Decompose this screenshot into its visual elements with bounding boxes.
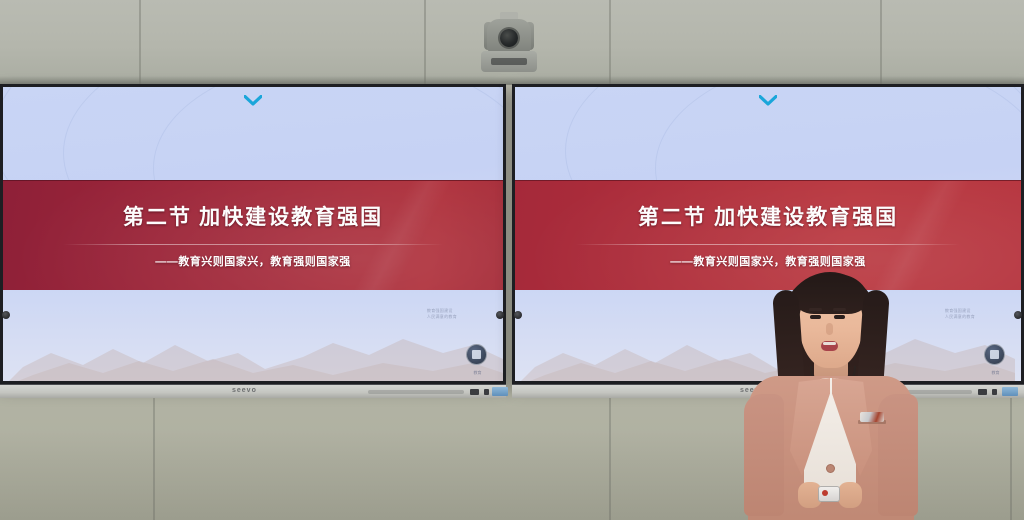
- watermark-line-2: 人民满意的教育: [427, 314, 457, 320]
- slide-watermark-logo-icon: [466, 344, 487, 365]
- presenter: [742, 268, 920, 520]
- wall-panel-seam: [139, 0, 141, 84]
- right-display-side-sensor: [514, 311, 522, 319]
- presenter-teeth: [823, 342, 836, 345]
- ptz-camera: [481, 12, 537, 74]
- watermark-line-2: 人民满意的教育: [945, 314, 975, 320]
- presenter-hand-right: [838, 482, 862, 508]
- right-slide-title: 第二节 加快建设教育强国: [515, 201, 1021, 231]
- camera-label-strip: [491, 58, 527, 65]
- presenter-eye-left: [810, 315, 821, 319]
- left-display-side-sensor: [2, 311, 10, 319]
- title-divider-rule: [576, 244, 961, 245]
- left-slide: 第二节 加快建设教育强国 ——教育兴则国家兴，教育强则国家强 教育强国建设 人民…: [3, 87, 503, 381]
- wall-panel-seam: [609, 0, 611, 84]
- slide-watermark-text: 教育强国建设 人民满意的教育: [427, 308, 457, 320]
- camera-lens-icon: [500, 29, 518, 47]
- right-bezel-badge: [1002, 387, 1018, 396]
- chevron-down-icon[interactable]: [759, 93, 777, 111]
- left-display[interactable]: 第二节 加快建设教育强国 ——教育兴则国家兴，教育强则国家强 教育强国建设 人民…: [0, 84, 506, 384]
- left-bezel-badge: [492, 387, 508, 396]
- slide-watermark-caption: 教育: [468, 370, 487, 376]
- presenter-arm-left: [744, 394, 784, 516]
- presenter-eye-right: [834, 315, 845, 319]
- left-slide-title: 第二节 加快建设教育强国: [3, 201, 503, 231]
- presenter-mouth: [821, 341, 838, 351]
- wall-panel-seam: [880, 0, 882, 84]
- band-diagonal-highlight: [263, 180, 503, 292]
- title-divider-rule: [63, 244, 443, 245]
- presenter-hair-fringe: [794, 274, 868, 314]
- right-display-side-sensor-right: [1014, 311, 1022, 319]
- slide-watermark-logo-icon: [984, 344, 1005, 365]
- logo-glyph: [472, 350, 481, 359]
- slide-watermark-caption: 教育: [986, 370, 1005, 376]
- presenter-remote-control[interactable]: [818, 486, 840, 502]
- left-display-side-sensor-right: [496, 311, 504, 319]
- right-bezel-indicator: [992, 389, 997, 395]
- slide-watermark-text: 教育强国建设 人民满意的教育: [945, 308, 975, 320]
- presenter-nose: [826, 323, 833, 335]
- left-bezel-vent: [368, 390, 464, 394]
- presenter-pocket-square: [860, 412, 884, 422]
- left-display-brand: seevo: [232, 387, 257, 394]
- remote-button-icon: [822, 490, 828, 496]
- left-bezel-indicator: [484, 389, 489, 395]
- left-slide-subtitle: ——教育兴则国家兴，教育强则国家强: [3, 253, 503, 269]
- presenter-blazer-button: [826, 464, 835, 473]
- right-slide-subtitle: ——教育兴则国家兴，教育强则国家强: [515, 253, 1021, 269]
- wall-panel-seam: [424, 0, 426, 84]
- chevron-down-icon[interactable]: [244, 93, 262, 111]
- left-bezel-button[interactable]: [470, 389, 479, 395]
- right-bezel-button[interactable]: [978, 389, 987, 395]
- left-slide-title-band: 第二节 加快建设教育强国 ——教育兴则国家兴，教育强则国家强: [3, 180, 503, 292]
- left-display-bezel: seevo: [0, 384, 506, 398]
- presenter-brow-left: [809, 308, 822, 311]
- left-slide-footer: 教育强国建设 人民满意的教育 教育: [3, 290, 503, 381]
- presenter-arm-right: [878, 394, 918, 516]
- logo-glyph: [990, 350, 999, 359]
- presenter-brow-right: [833, 308, 846, 311]
- classroom-scene: 第二节 加快建设教育强国 ——教育兴则国家兴，教育强则国家强 教育强国建设 人民…: [0, 0, 1024, 520]
